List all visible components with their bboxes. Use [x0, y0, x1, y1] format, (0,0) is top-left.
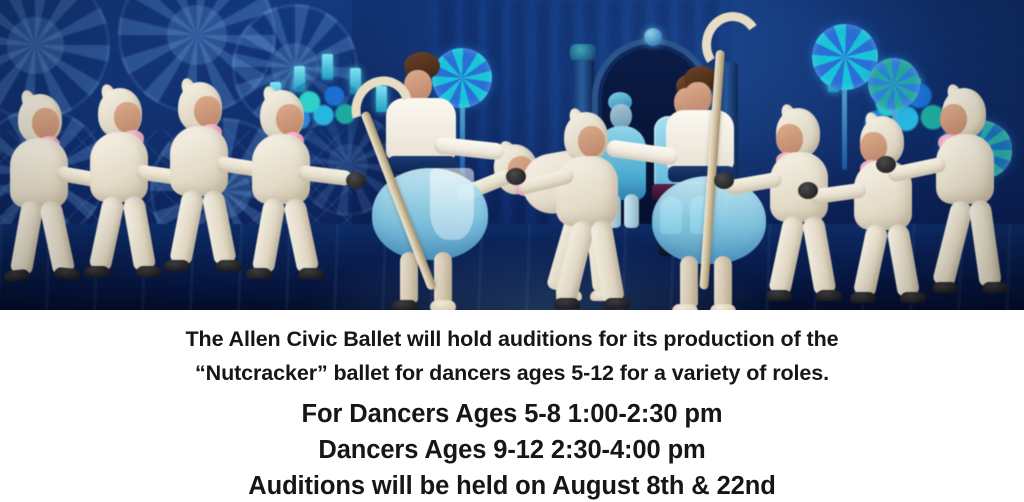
caption-line-2: “Nutcracker” ballet for dancers ages 5-1…	[0, 359, 1024, 388]
shoe	[982, 282, 1008, 293]
face	[32, 108, 59, 139]
leg	[434, 252, 452, 304]
hoof-mitten	[714, 172, 734, 189]
audition-poster: The Allen Civic Ballet will hold auditio…	[0, 0, 1024, 502]
face	[940, 104, 967, 135]
caption-line-4-ages-9-12: Dancers Ages 9-12 2:30-4:00 pm	[0, 434, 1024, 466]
throne-post-cap	[570, 44, 596, 60]
caption-block: The Allen Civic Ballet will hold auditio…	[0, 310, 1024, 502]
ballet-shoe	[392, 300, 418, 310]
face	[776, 124, 803, 155]
caption-line-3-ages-5-8: For Dancers Ages 5-8 1:00-2:30 pm	[0, 398, 1024, 430]
ballet-shoe	[430, 300, 456, 310]
ballet-stage-photo	[0, 0, 1024, 310]
shoe	[850, 292, 876, 303]
candle-icon	[322, 54, 333, 80]
hoof-mitten	[798, 182, 818, 199]
shoe	[766, 290, 792, 301]
costume-torso	[936, 134, 994, 204]
leg	[400, 252, 418, 304]
shoe	[164, 260, 190, 271]
lollipop-prop	[868, 58, 920, 110]
leg	[624, 194, 639, 228]
hoof-mitten	[506, 168, 526, 185]
shoe	[604, 298, 630, 309]
shoe	[216, 260, 242, 271]
leg	[714, 256, 732, 308]
shoe	[246, 268, 272, 279]
caption-line-5-audition-dates: Auditions will be held on August 8th & 2…	[0, 470, 1024, 502]
leg	[680, 256, 698, 308]
shoe	[554, 298, 580, 309]
shoe	[136, 266, 162, 277]
shoe	[298, 268, 324, 279]
costume-torso	[556, 156, 618, 226]
shoe	[816, 290, 842, 301]
face	[194, 96, 221, 127]
throne-finial-icon	[644, 28, 662, 46]
shoe	[84, 266, 110, 277]
apron	[430, 168, 474, 240]
face	[276, 104, 303, 135]
hoof-mitten	[346, 172, 366, 189]
caption-line-1: The Allen Civic Ballet will hold auditio…	[0, 325, 1024, 354]
face	[114, 102, 141, 133]
hoof-mitten	[876, 156, 896, 173]
shoe	[900, 292, 926, 303]
face	[578, 126, 605, 157]
shoe	[932, 282, 958, 293]
